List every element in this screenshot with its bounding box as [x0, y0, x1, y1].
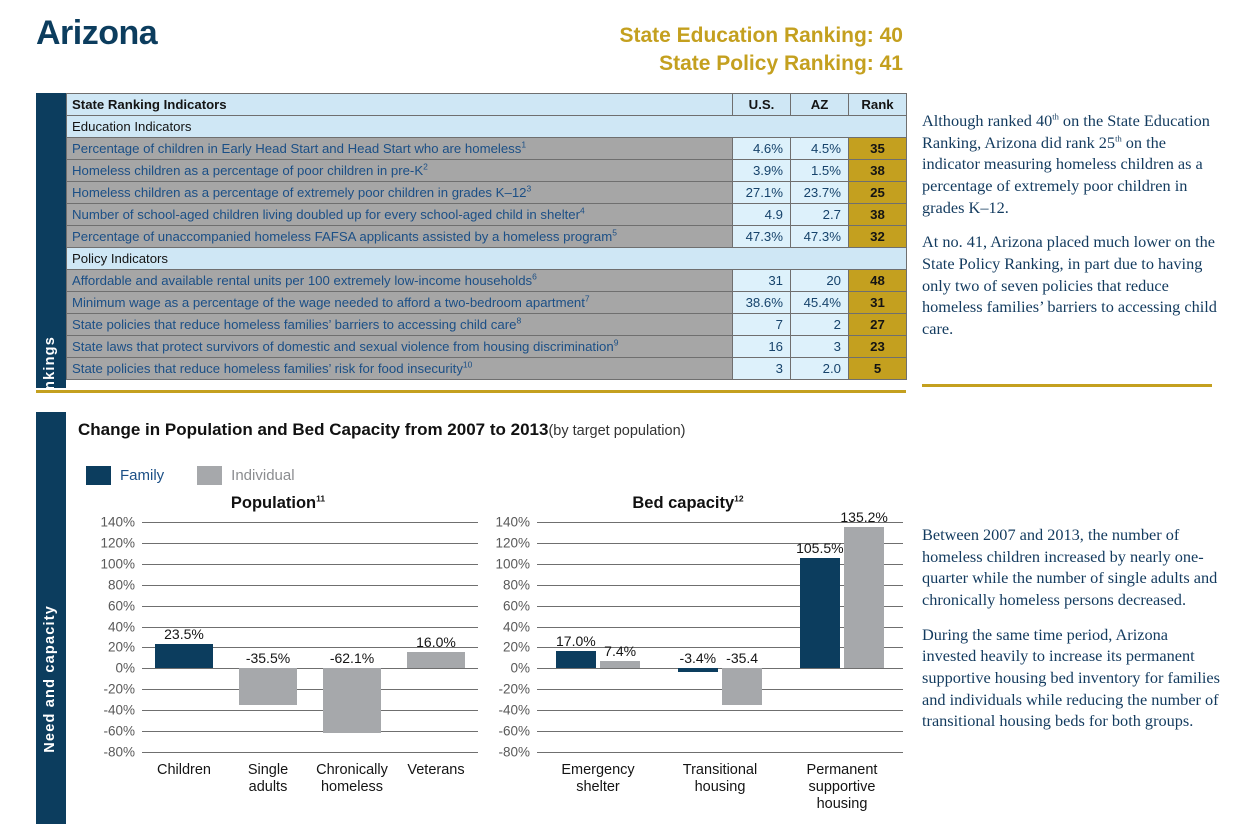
- cell-indicator: Minimum wage as a percentage of the wage…: [67, 292, 733, 314]
- y-axis-tick: 80%: [82, 577, 140, 592]
- cell-us: 4.9: [733, 204, 791, 226]
- table-row: Minimum wage as a percentage of the wage…: [67, 292, 907, 314]
- cell-indicator: Percentage of unaccompanied homeless FAF…: [67, 226, 733, 248]
- legend-item-individual: Individual: [197, 466, 294, 485]
- chart-bar: [678, 668, 718, 672]
- x-axis-label: Single adults: [248, 762, 288, 796]
- bed-capacity-plot-area: 140%120%100%80%60%40%20%0%-20%-40%-60%-8…: [473, 522, 903, 752]
- bar-value-label: 135.2%: [840, 509, 887, 525]
- sidebar-paragraph-1: Although ranked 40th on the State Educat…: [922, 110, 1222, 218]
- state-ranking-indicators-table: State Ranking Indicators U.S. AZ Rank Ed…: [66, 93, 907, 380]
- cell-indicator: Homeless children as a percentage of ext…: [67, 182, 733, 204]
- population-plot-area: 140%120%100%80%60%40%20%0%-20%-40%-60%-8…: [78, 522, 478, 752]
- bed-capacity-chart-title: Bed capacity12: [473, 494, 903, 513]
- table-section-row: Education Indicators: [67, 116, 907, 138]
- x-axis-label: Emergency shelter: [561, 762, 634, 796]
- sidebar-paragraph-3: Between 2007 and 2013, the number of hom…: [922, 524, 1222, 611]
- sidebar-paragraph-4: During the same time period, Arizona inv…: [922, 624, 1222, 732]
- table-row: State policies that reduce homeless fami…: [67, 314, 907, 336]
- y-axis-tick: 100%: [477, 556, 535, 571]
- cell-us: 31: [733, 270, 791, 292]
- cell-us: 16: [733, 336, 791, 358]
- chart-legend: Family Individual: [86, 466, 319, 485]
- y-axis-tick: 40%: [82, 619, 140, 634]
- bar-value-label: -35.4: [726, 650, 758, 666]
- page-title: Arizona: [36, 14, 157, 53]
- y-axis-tick: 140%: [477, 515, 535, 530]
- cell-us: 47.3%: [733, 226, 791, 248]
- gridline: [142, 752, 478, 753]
- chart-bar: [800, 558, 840, 668]
- table-row: Number of school-aged children living do…: [67, 204, 907, 226]
- y-axis-tick: 140%: [82, 515, 140, 530]
- need-and-capacity-tab-label: Need and capacity: [42, 605, 58, 753]
- table-row: Affordable and available rental units pe…: [67, 270, 907, 292]
- sidebar-text-top: Although ranked 40th on the State Educat…: [922, 110, 1222, 353]
- table-row: Percentage of unaccompanied homeless FAF…: [67, 226, 907, 248]
- cell-rank: 23: [849, 336, 907, 358]
- x-axis-label: Permanent supportive housing: [807, 762, 878, 813]
- sidebar-text-bottom: Between 2007 and 2013, the number of hom…: [922, 524, 1222, 745]
- table-row: State policies that reduce homeless fami…: [67, 358, 907, 380]
- y-axis-tick: 0%: [82, 661, 140, 676]
- cell-rank: 25: [849, 182, 907, 204]
- table-header-row: State Ranking Indicators U.S. AZ Rank: [67, 94, 907, 116]
- y-axis-tick: 20%: [82, 640, 140, 655]
- gold-divider-sidebar-top: [922, 384, 1212, 387]
- bar-value-label: 7.4%: [604, 643, 636, 659]
- legend-swatch-family-icon: [86, 466, 111, 485]
- cell-us: 7: [733, 314, 791, 336]
- cell-az: 1.5%: [791, 160, 849, 182]
- chart-bar: [323, 668, 382, 733]
- cell-az: 45.4%: [791, 292, 849, 314]
- y-axis-tick: -20%: [477, 682, 535, 697]
- table-section-title: Policy Indicators: [67, 248, 907, 270]
- chart-bar: [844, 527, 884, 668]
- legend-swatch-individual-icon: [197, 466, 222, 485]
- y-axis-tick: -80%: [82, 745, 140, 760]
- table-row: State laws that protect survivors of dom…: [67, 336, 907, 358]
- col-header-rank: Rank: [849, 94, 907, 116]
- x-axis-label: Children: [157, 762, 211, 779]
- y-axis-tick: 60%: [477, 598, 535, 613]
- cell-rank: 38: [849, 204, 907, 226]
- chart-bar: [600, 661, 640, 669]
- chart-bar: [155, 644, 214, 669]
- y-axis-tick: -60%: [82, 724, 140, 739]
- rankings-block: State Education Ranking: 40 State Policy…: [619, 22, 903, 78]
- cell-rank: 38: [849, 160, 907, 182]
- charts-title-main: Change in Population and Bed Capacity fr…: [78, 420, 548, 439]
- cell-us: 3.9%: [733, 160, 791, 182]
- cell-us: 4.6%: [733, 138, 791, 160]
- population-chart: Population11 140%120%100%80%60%40%20%0%-…: [78, 494, 478, 824]
- cell-indicator: Number of school-aged children living do…: [67, 204, 733, 226]
- bar-value-label: 16.0%: [416, 634, 456, 650]
- bars-area: 17.0%7.4%-3.4%-35.4105.5%135.2%: [537, 522, 903, 752]
- chart-bar: [722, 668, 762, 705]
- y-axis-tick: -20%: [82, 682, 140, 697]
- y-axis-tick: -40%: [82, 703, 140, 718]
- table-section-row: Policy Indicators: [67, 248, 907, 270]
- bar-value-label: -62.1%: [330, 650, 374, 666]
- x-axis-label: Veterans: [407, 762, 464, 779]
- gold-divider-table: [36, 390, 906, 393]
- x-axis-label: Transitional housing: [683, 762, 757, 796]
- cell-rank: 27: [849, 314, 907, 336]
- y-axis-tick: -40%: [477, 703, 535, 718]
- chart-bar: [556, 651, 596, 669]
- bar-value-label: 105.5%: [796, 540, 843, 556]
- cell-rank: 48: [849, 270, 907, 292]
- cell-us: 3: [733, 358, 791, 380]
- bars-area: 23.5%-35.5%-62.1%16.0%: [142, 522, 478, 752]
- bar-value-label: 17.0%: [556, 633, 596, 649]
- legend-label-family: Family: [120, 467, 164, 484]
- cell-us: 38.6%: [733, 292, 791, 314]
- education-ranking: State Education Ranking: 40: [619, 22, 903, 50]
- cell-rank: 5: [849, 358, 907, 380]
- y-axis-tick: 120%: [82, 535, 140, 550]
- y-axis-tick: -80%: [477, 745, 535, 760]
- cell-az: 4.5%: [791, 138, 849, 160]
- table-row: Homeless children as a percentage of poo…: [67, 160, 907, 182]
- cell-indicator: State laws that protect survivors of dom…: [67, 336, 733, 358]
- bar-value-label: 23.5%: [164, 626, 204, 642]
- cell-az: 2: [791, 314, 849, 336]
- cell-rank: 35: [849, 138, 907, 160]
- cell-az: 3: [791, 336, 849, 358]
- infographic-page: Arizona State Education Ranking: 40 Stat…: [0, 0, 1233, 834]
- legend-item-family: Family: [86, 466, 164, 485]
- cell-az: 47.3%: [791, 226, 849, 248]
- chart-bar: [407, 652, 466, 669]
- cell-az: 2.7: [791, 204, 849, 226]
- table-row: Homeless children as a percentage of ext…: [67, 182, 907, 204]
- charts-section-title: Change in Population and Bed Capacity fr…: [78, 420, 685, 440]
- cell-indicator: State policies that reduce homeless fami…: [67, 314, 733, 336]
- population-chart-title: Population11: [78, 494, 478, 513]
- col-header-us: U.S.: [733, 94, 791, 116]
- x-axis-label: Chronically homeless: [316, 762, 388, 796]
- col-header-indicator: State Ranking Indicators: [67, 94, 733, 116]
- chart-bar: [239, 668, 298, 705]
- y-axis-tick: 0%: [477, 661, 535, 676]
- cell-indicator: State policies that reduce homeless fami…: [67, 358, 733, 380]
- charts-title-sub: (by target population): [548, 423, 685, 439]
- cell-us: 27.1%: [733, 182, 791, 204]
- cell-az: 23.7%: [791, 182, 849, 204]
- y-axis-tick: -60%: [477, 724, 535, 739]
- y-axis-tick: 100%: [82, 556, 140, 571]
- legend-label-individual: Individual: [231, 467, 294, 484]
- gridline: [537, 752, 903, 753]
- policy-ranking: State Policy Ranking: 41: [619, 50, 903, 78]
- cell-indicator: Affordable and available rental units pe…: [67, 270, 733, 292]
- y-axis-tick: 20%: [477, 640, 535, 655]
- y-axis-tick: 60%: [82, 598, 140, 613]
- cell-az: 2.0: [791, 358, 849, 380]
- y-axis-tick: 80%: [477, 577, 535, 592]
- cell-rank: 32: [849, 226, 907, 248]
- cell-az: 20: [791, 270, 849, 292]
- sidebar-paragraph-2: At no. 41, Arizona placed much lower on …: [922, 231, 1222, 339]
- cell-rank: 31: [849, 292, 907, 314]
- col-header-az: AZ: [791, 94, 849, 116]
- cell-indicator: Percentage of children in Early Head Sta…: [67, 138, 733, 160]
- y-axis-tick: 40%: [477, 619, 535, 634]
- bed-capacity-chart: Bed capacity12 140%120%100%80%60%40%20%0…: [473, 494, 903, 824]
- bar-value-label: -3.4%: [680, 650, 717, 666]
- y-axis-tick: 120%: [477, 535, 535, 550]
- need-and-capacity-section: Need and capacity Change in Population a…: [36, 412, 906, 824]
- bar-value-label: -35.5%: [246, 650, 290, 666]
- cell-indicator: Homeless children as a percentage of poo…: [67, 160, 733, 182]
- table-section-title: Education Indicators: [67, 116, 907, 138]
- table-row: Percentage of children in Early Head Sta…: [67, 138, 907, 160]
